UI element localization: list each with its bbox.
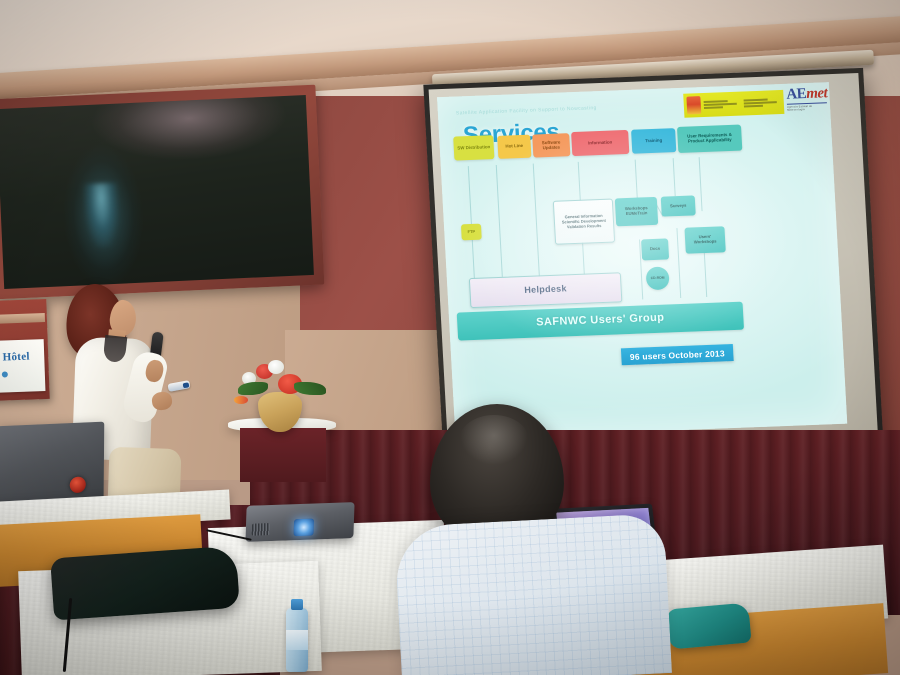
hotel-sign-dot bbox=[2, 371, 8, 377]
node-label: Training bbox=[645, 138, 662, 143]
connector-line bbox=[676, 228, 681, 298]
attendee-shirt bbox=[394, 513, 672, 675]
hotel-sign-paper: Hôtel bbox=[0, 339, 45, 393]
node-label: CD-ROM bbox=[651, 276, 665, 280]
teal-bag-item[interactable] bbox=[666, 603, 751, 650]
projector-vent bbox=[252, 523, 270, 536]
users-stat-label: 96 users October 2013 bbox=[630, 348, 725, 362]
helpdesk-label: Helpdesk bbox=[524, 285, 567, 296]
users-stat-banner: 96 users October 2013 bbox=[621, 344, 734, 365]
service-node-software-updates[interactable]: Software Updates bbox=[532, 133, 570, 157]
node-label: Software Updates bbox=[534, 140, 569, 151]
node-label-line: Workshops bbox=[694, 240, 717, 246]
helpdesk-box[interactable]: Helpdesk bbox=[469, 272, 623, 308]
laptop-badge-icon bbox=[70, 476, 86, 493]
hotel-sign-bar bbox=[0, 313, 45, 324]
service-node-training[interactable]: Training bbox=[631, 128, 676, 154]
connector-line bbox=[704, 251, 707, 297]
photo-scene: Hôtel Satellite Application Facility on … bbox=[0, 0, 900, 675]
flower-leaf bbox=[238, 382, 268, 395]
service-node-information-detail[interactable]: General Information Scientific Developme… bbox=[553, 199, 615, 245]
users-group-bar[interactable]: SAFNWC Users' Group bbox=[457, 302, 744, 341]
node-label-line: EUMeTrain bbox=[626, 211, 648, 217]
flower-leaf bbox=[294, 382, 326, 395]
presenter-laptop-lid[interactable] bbox=[0, 422, 104, 505]
service-node-sw-distribution[interactable]: SW Distribution bbox=[453, 135, 494, 161]
hotel-sign-board: Hôtel bbox=[0, 299, 50, 401]
service-node-user-requirements[interactable]: User Requirements & Product Applicabilit… bbox=[677, 125, 742, 153]
projector-lens-icon bbox=[294, 519, 315, 537]
connector-line bbox=[635, 160, 638, 200]
flower-arrangement bbox=[232, 356, 332, 404]
node-label: FTP bbox=[467, 230, 475, 235]
node-label: Docs bbox=[650, 247, 660, 252]
presentation-slide: Satellite Application Facility on Suppor… bbox=[437, 82, 847, 439]
node-label-line: Validation Results bbox=[567, 224, 602, 230]
hotel-sign-label: Hôtel bbox=[0, 350, 44, 364]
bottle-label bbox=[286, 630, 308, 650]
connector-line bbox=[673, 158, 676, 196]
users-group-label: SAFNWC Users' Group bbox=[536, 313, 665, 330]
wall-painting-frame bbox=[0, 85, 324, 300]
service-node-surveys[interactable]: Surveys bbox=[661, 195, 696, 216]
connector-line bbox=[578, 162, 581, 202]
flower-petal-white bbox=[268, 360, 284, 374]
flower-petal-fallen bbox=[234, 396, 248, 404]
black-bag[interactable] bbox=[50, 546, 240, 621]
service-node-cdrom[interactable]: CD-ROM bbox=[646, 266, 670, 290]
node-label: Hot Line bbox=[505, 144, 523, 149]
node-label: SW Distribution bbox=[457, 145, 490, 151]
connector-line bbox=[699, 157, 703, 211]
service-node-hot-line[interactable]: Hot Line bbox=[497, 135, 531, 159]
projector[interactable] bbox=[245, 502, 354, 542]
bottle-cap bbox=[291, 599, 303, 610]
service-node-ftp[interactable]: FTP bbox=[461, 224, 482, 241]
service-node-users-workshops[interactable]: Users' Workshops bbox=[684, 226, 725, 253]
services-diagram: SW Distribution Hot Line Software Update… bbox=[437, 82, 847, 439]
node-label: Surveys bbox=[670, 203, 687, 208]
service-node-docs[interactable]: Docs bbox=[641, 238, 669, 260]
painting-figure bbox=[83, 183, 120, 248]
flower-table-skirt bbox=[240, 428, 326, 482]
node-label: User Requirements & Product Applicabilit… bbox=[678, 133, 740, 145]
wall-painting-canvas bbox=[0, 95, 314, 289]
service-node-workshops-eumetrain[interactable]: Workshops EUMeTrain bbox=[615, 197, 658, 227]
node-label: Information bbox=[588, 140, 612, 146]
water-bottle[interactable] bbox=[286, 608, 308, 672]
connector-line bbox=[496, 165, 503, 277]
service-node-information[interactable]: Information bbox=[571, 130, 629, 156]
